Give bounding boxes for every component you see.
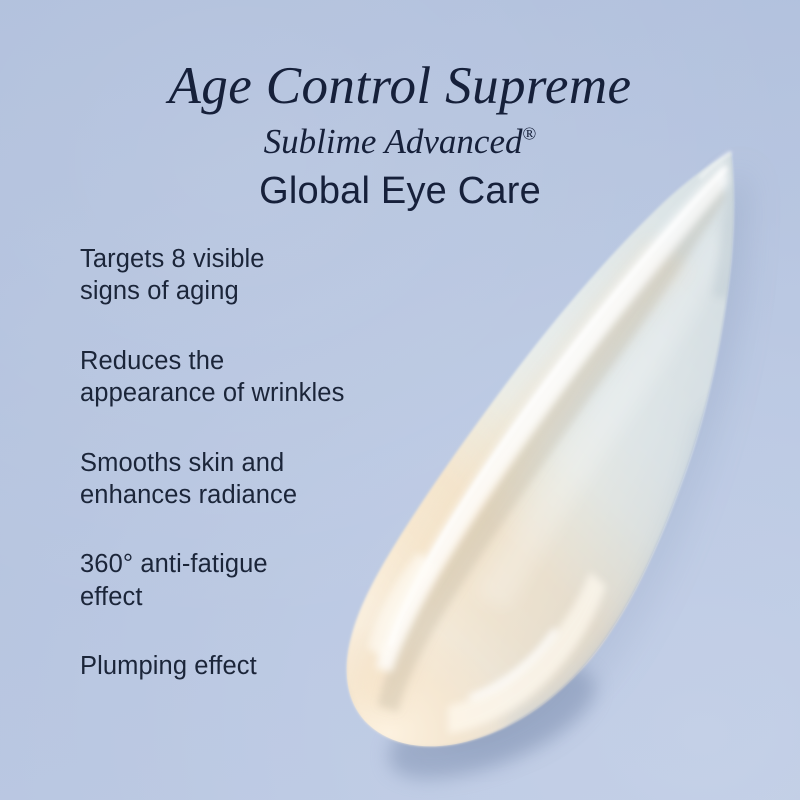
benefit-item-4: 360° anti-fatigue effect xyxy=(80,548,410,613)
page-title: Age Control Supreme xyxy=(0,58,800,115)
benefit-item-2: Reduces the appearance of wrinkles xyxy=(80,345,410,410)
product-category: Global Eye Care xyxy=(0,171,800,213)
benefit-item-5: Plumping effect xyxy=(80,650,410,682)
product-image-canvas: Age Control Supreme Sublime Advanced® Gl… xyxy=(0,0,800,800)
benefit-item-3: Smooths skin and enhances radiance xyxy=(80,447,410,512)
headline-block: Age Control Supreme Sublime Advanced® Gl… xyxy=(0,58,800,213)
benefit-list: Targets 8 visible signs of aging Reduces… xyxy=(80,243,410,682)
registered-trademark-icon: ® xyxy=(523,124,537,144)
product-subtitle-text: Sublime Advanced xyxy=(264,122,523,161)
benefit-item-1: Targets 8 visible signs of aging xyxy=(80,243,410,308)
product-subtitle: Sublime Advanced® xyxy=(0,123,800,162)
